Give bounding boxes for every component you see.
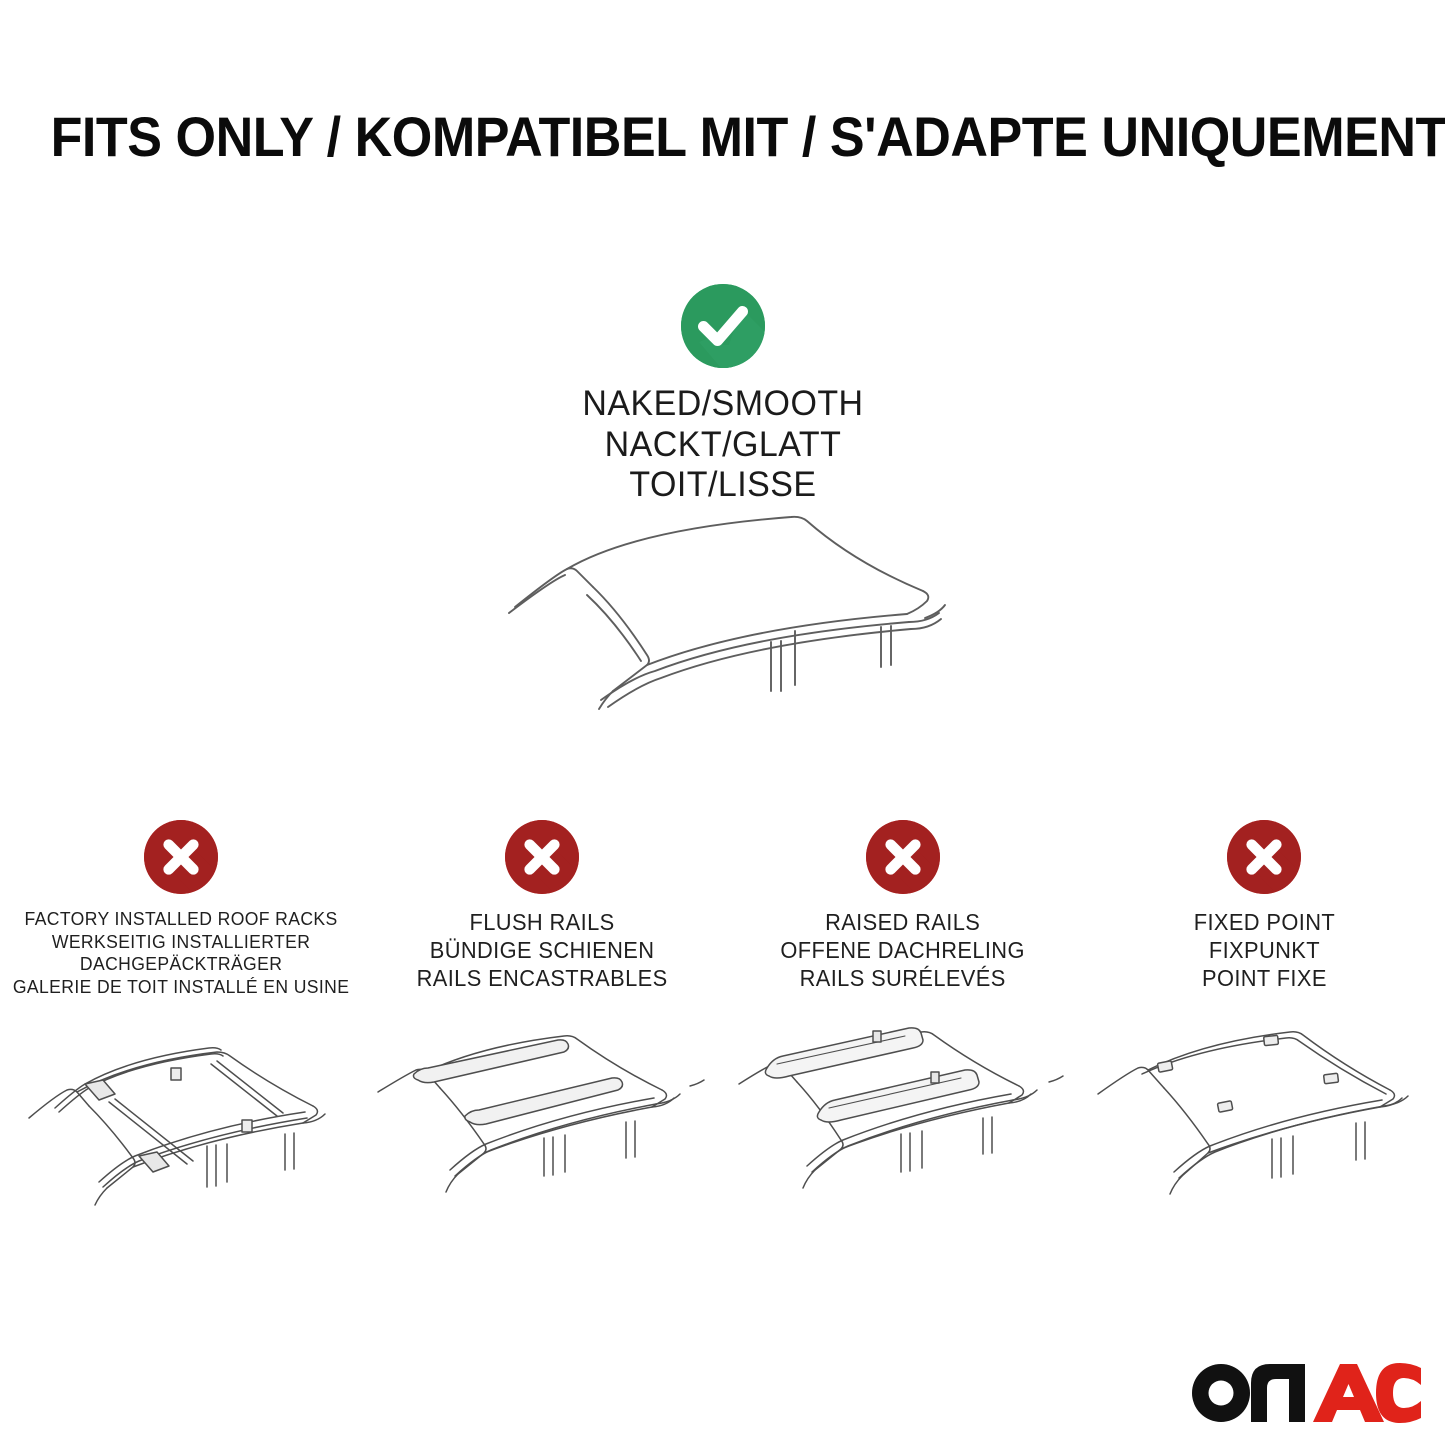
car-roof-factory-roof-racks-illustration	[11, 1022, 351, 1237]
logo-letter-m	[1251, 1364, 1305, 1422]
incompatible-label-line: OFFENE DACHRELING	[781, 936, 1025, 964]
roof-illustration-cell	[723, 1022, 1084, 1237]
roof-illustration-cell	[361, 1022, 722, 1237]
incompatible-column-flush-rails: FLUSH RAILS BÜNDIGE SCHIENEN RAILS ENCAS…	[361, 820, 722, 998]
incompatible-label-line: RAILS SURÉLEVÉS	[781, 964, 1025, 992]
omac-logo	[1189, 1359, 1421, 1423]
x-circle-icon	[505, 820, 579, 894]
compatible-label-line: NAKED/SMOOTH	[582, 384, 863, 425]
incompatible-label-line: FIXED POINT	[1194, 908, 1335, 936]
x-mark-icon	[866, 820, 940, 894]
compatible-label-line: NACKT/GLATT	[582, 425, 863, 466]
incompatible-label-line: POINT FIXE	[1194, 964, 1335, 992]
incompatible-label-line: FIXPUNKT	[1194, 936, 1335, 964]
incompatible-label-line: WERKSEITIG INSTALLIERTER	[12, 931, 348, 954]
incompatible-label-line: DACHGEPÄCKTRÄGER	[12, 953, 348, 976]
incompatible-label-line: BÜNDIGE SCHIENEN	[416, 936, 667, 964]
incompatible-label-line: FACTORY INSTALLED ROOF RACKS	[12, 908, 348, 931]
incompatible-sections: FACTORY INSTALLED ROOF RACKS WERKSEITIG …	[0, 820, 1445, 998]
incompatible-column-fixed-point: FIXED POINT FIXPUNKT POINT FIXE	[1084, 820, 1445, 998]
logo-letter-a	[1313, 1364, 1384, 1422]
x-mark-icon	[1227, 820, 1301, 894]
roof-illustration-cell	[0, 1022, 361, 1237]
car-roof-raised-rails-illustration	[733, 1022, 1073, 1237]
incompatible-labels: RAISED RAILS OFFENE DACHRELING RAILS SUR…	[781, 908, 1025, 992]
car-roof-fixed-point-illustration	[1094, 1022, 1434, 1237]
x-circle-icon	[866, 820, 940, 894]
compatible-labels: NAKED/SMOOTH NACKT/GLATT TOIT/LISSE	[582, 384, 863, 506]
roof-illustrations-row	[0, 1022, 1445, 1237]
logo-letter-c	[1376, 1363, 1421, 1423]
logo-letter-o	[1192, 1364, 1250, 1422]
compatible-section: NAKED/SMOOTH NACKT/GLATT TOIT/LISSE	[0, 284, 1445, 506]
check-circle-icon	[681, 284, 765, 368]
car-roof-naked-smooth-illustration	[495, 495, 975, 745]
x-mark-icon	[505, 820, 579, 894]
car-roof-flush-rails-illustration	[372, 1022, 712, 1237]
x-circle-icon	[1227, 820, 1301, 894]
incompatible-label-line: GALERIE DE TOIT INSTALLÉ EN USINE	[12, 976, 348, 999]
roof-illustration-cell	[1084, 1022, 1445, 1237]
incompatible-label-line: RAISED RAILS	[781, 908, 1025, 936]
check-mark-icon	[681, 284, 765, 368]
incompatible-labels: FIXED POINT FIXPUNKT POINT FIXE	[1194, 908, 1335, 992]
incompatible-column-factory-roof-racks: FACTORY INSTALLED ROOF RACKS WERKSEITIG …	[0, 820, 361, 998]
incompatible-column-raised-rails: RAISED RAILS OFFENE DACHRELING RAILS SUR…	[723, 820, 1084, 998]
x-circle-icon	[144, 820, 218, 894]
page-title: FITS ONLY / KOMPATIBEL MIT / S'ADAPTE UN…	[51, 104, 1395, 169]
incompatible-labels: FACTORY INSTALLED ROOF RACKS WERKSEITIG …	[12, 908, 348, 998]
x-mark-icon	[144, 820, 218, 894]
incompatible-label-line: FLUSH RAILS	[416, 908, 667, 936]
incompatible-label-line: RAILS ENCASTRABLES	[416, 964, 667, 992]
incompatible-labels: FLUSH RAILS BÜNDIGE SCHIENEN RAILS ENCAS…	[416, 908, 667, 992]
